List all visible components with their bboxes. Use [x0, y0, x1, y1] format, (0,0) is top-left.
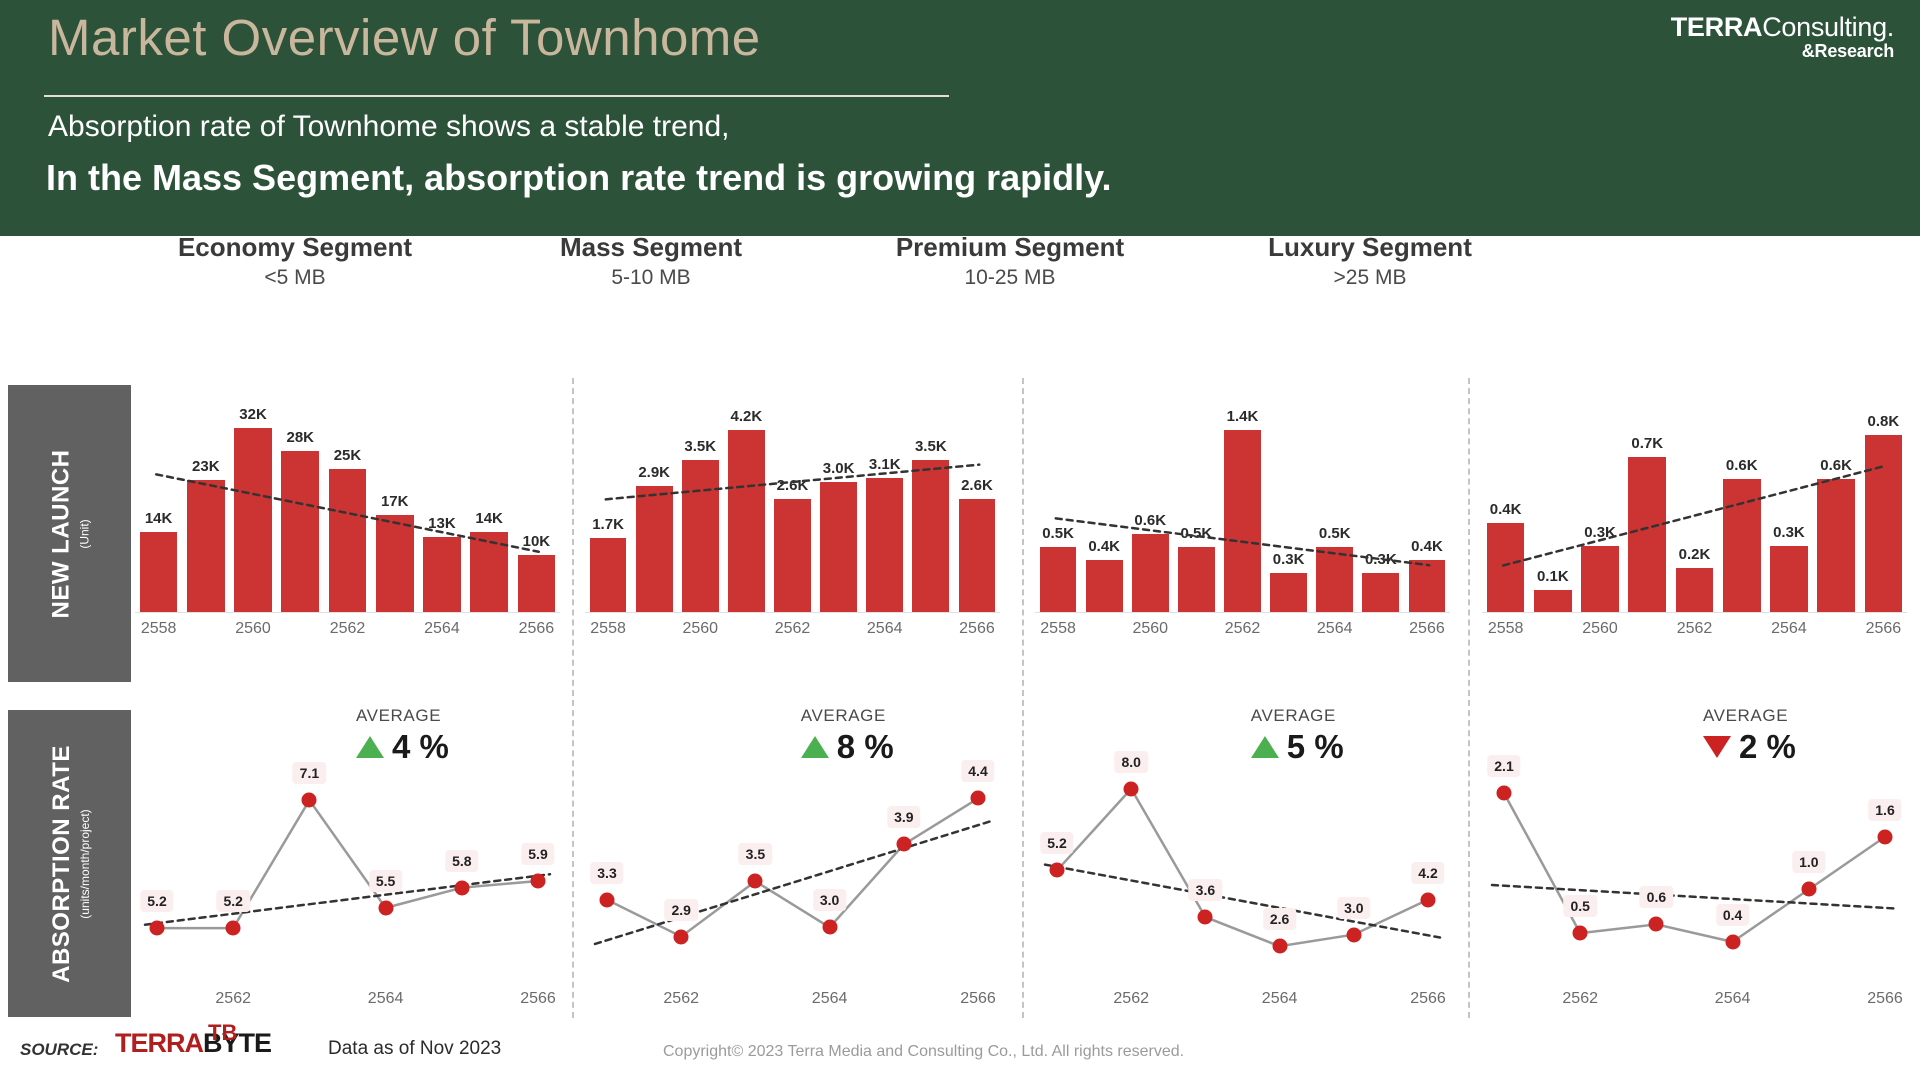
line-series-svg: [1035, 720, 1450, 1015]
data-point[interactable]: [226, 921, 241, 936]
trend-up-icon: [801, 736, 829, 758]
line-series-svg: [585, 720, 1000, 1015]
line-series-svg: [1482, 720, 1907, 1015]
header-subtitle-1: Absorption rate of Townhome shows a stab…: [48, 110, 730, 144]
logo-terra-text: TERRA: [1671, 12, 1763, 42]
data-point[interactable]: [822, 920, 837, 935]
x-axis-tick-label: 2566: [1388, 990, 1468, 1008]
x-axis-tick-label: 2562: [1540, 990, 1620, 1008]
trend-line: [135, 375, 560, 665]
data-point[interactable]: [1878, 829, 1893, 844]
average-caption: AVERAGE: [1703, 706, 1796, 726]
data-point[interactable]: [1497, 786, 1512, 801]
trend-up-icon: [1251, 736, 1279, 758]
average-value: 8 %: [837, 728, 894, 766]
page-header: Market Overview of Townhome Absorption r…: [0, 0, 1920, 236]
data-point[interactable]: [600, 892, 615, 907]
average-caption: AVERAGE: [1251, 706, 1344, 726]
data-point-label: 2.9: [664, 899, 697, 921]
x-axis-tick-label: 2564: [790, 990, 870, 1008]
data-point-label: 3.9: [887, 806, 920, 828]
x-axis-tick-label: 2564: [346, 990, 426, 1008]
data-point-label: 5.2: [216, 890, 249, 912]
line-chart-economy: 5.25.27.15.55.85.9256225642566AVERAGE4 %: [135, 720, 560, 1015]
average-value: 5 %: [1287, 728, 1344, 766]
data-point[interactable]: [150, 921, 165, 936]
chart-subtitle: 10-25 MB: [845, 266, 1175, 290]
average-badge: AVERAGE5 %: [1251, 706, 1344, 766]
data-point-label: 7.1: [293, 762, 326, 784]
row-label-text: ABSORPTION RATE: [48, 745, 76, 983]
x-axis-tick-label: 2562: [1091, 990, 1171, 1008]
data-point[interactable]: [1346, 927, 1361, 942]
chart-title: Economy Segment: [130, 232, 460, 263]
trend-up-icon: [356, 736, 384, 758]
average-caption: AVERAGE: [356, 706, 449, 726]
average-value-row: 8 %: [801, 728, 894, 766]
data-point-label: 3.5: [739, 843, 772, 865]
data-point[interactable]: [1421, 892, 1436, 907]
average-value: 4 %: [392, 728, 449, 766]
data-point-label: 5.8: [445, 850, 478, 872]
average-caption: AVERAGE: [801, 706, 894, 726]
row-label-absorption-rate: ABSORPTION RATE (units/month/project): [8, 710, 131, 1017]
x-axis-tick-label: 2564: [1693, 990, 1773, 1008]
row-label-text: NEW LAUNCH: [48, 449, 76, 618]
data-point[interactable]: [378, 900, 393, 915]
panel-divider-1: [572, 378, 574, 1018]
bar-chart-luxury: 0.4K25580.1K0.3K25600.7K0.2K25620.6K0.3K…: [1482, 375, 1907, 665]
bar-chart-economy: 14K255823K32K256028K25K256217K13K256414K…: [135, 375, 560, 665]
data-point[interactable]: [454, 880, 469, 895]
data-point[interactable]: [1198, 910, 1213, 925]
chart-title: Premium Segment: [845, 232, 1175, 263]
line-chart-luxury: 2.10.50.60.41.01.6256225642566AVERAGE2 %: [1482, 720, 1907, 1015]
data-point-label: 4.4: [961, 760, 994, 782]
column-title-economy: Economy Segment <5 MB: [130, 232, 460, 290]
data-point-label: 3.6: [1189, 879, 1222, 901]
data-point[interactable]: [971, 791, 986, 806]
page-footer: SOURCE: TERRABYTE TB Data as of Nov 2023…: [0, 1020, 1920, 1080]
x-axis-tick-label: 2566: [938, 990, 1018, 1008]
data-point-label: 3.0: [1337, 897, 1370, 919]
data-point-label: 2.6: [1263, 908, 1296, 930]
terrabyte-logo-terra: TERRA: [115, 1028, 203, 1058]
data-point-label: 1.6: [1868, 799, 1901, 821]
x-axis-tick-label: 2566: [1845, 990, 1920, 1008]
data-point[interactable]: [1801, 882, 1816, 897]
average-value-row: 2 %: [1703, 728, 1796, 766]
dashboard-page: Market Overview of Townhome Absorption r…: [0, 0, 1920, 1080]
column-title-premium: Premium Segment 10-25 MB: [845, 232, 1175, 290]
logo-consulting-text: Consulting.: [1762, 12, 1894, 42]
copyright-text: Copyright© 2023 Terra Media and Consulti…: [663, 1043, 1184, 1061]
average-badge: AVERAGE8 %: [801, 706, 894, 766]
logo-research-text: &Research: [1671, 42, 1894, 60]
data-point[interactable]: [1050, 863, 1065, 878]
column-title-mass: Mass Segment 5-10 MB: [486, 232, 816, 290]
data-point-label: 5.9: [521, 843, 554, 865]
header-subtitle-2: In the Mass Segment, absorption rate tre…: [46, 157, 1112, 199]
average-value: 2 %: [1739, 728, 1796, 766]
average-value-row: 5 %: [1251, 728, 1344, 766]
trend-line: [1035, 375, 1450, 665]
data-as-of-text: Data as of Nov 2023: [328, 1038, 501, 1060]
line-chart-mass: 3.32.93.53.03.94.4256225642566AVERAGE8 %: [585, 720, 1000, 1015]
terra-consulting-logo: TERRAConsulting. &Research: [1671, 14, 1894, 60]
panel-divider-2: [1022, 378, 1024, 1018]
data-point[interactable]: [302, 793, 317, 808]
chart-title: Mass Segment: [486, 232, 816, 263]
trend-line: [585, 375, 1000, 665]
data-point-label: 0.5: [1563, 895, 1596, 917]
trend-down-icon: [1703, 736, 1731, 758]
data-point-label: 3.3: [590, 862, 623, 884]
source-label: SOURCE:: [20, 1040, 98, 1060]
row-label-new-launch: NEW LAUNCH (Unit): [8, 385, 131, 682]
x-axis-tick-label: 2562: [193, 990, 273, 1008]
data-point[interactable]: [1573, 926, 1588, 941]
bar-chart-mass: 1.7K25582.9K3.5K25604.2K2.6K25623.0K3.1K…: [585, 375, 1000, 665]
data-point-label: 5.2: [1040, 832, 1073, 854]
row-unit-text: (Unit): [78, 449, 92, 618]
x-axis-tick-label: 2564: [1240, 990, 1320, 1008]
page-title: Market Overview of Townhome: [48, 8, 761, 67]
average-badge: AVERAGE2 %: [1703, 706, 1796, 766]
average-value-row: 4 %: [356, 728, 449, 766]
trend-line: [1482, 375, 1907, 665]
data-point[interactable]: [1649, 917, 1664, 932]
data-point-label: 4.2: [1411, 862, 1444, 884]
bar-chart-premium: 0.5K25580.4K0.6K25600.5K1.4K25620.3K0.5K…: [1035, 375, 1450, 665]
terrabyte-logo: TERRABYTE: [115, 1028, 271, 1059]
data-point-label: 0.6: [1640, 886, 1673, 908]
data-point-label: 1.0: [1792, 851, 1825, 873]
chart-subtitle: <5 MB: [130, 266, 460, 290]
line-series-svg: [135, 720, 560, 1015]
chart-subtitle: 5-10 MB: [486, 266, 816, 290]
column-title-luxury: Luxury Segment >25 MB: [1205, 232, 1535, 290]
data-point-label: 5.5: [369, 870, 402, 892]
row-unit-text: (units/month/project): [78, 745, 92, 983]
data-point[interactable]: [896, 837, 911, 852]
data-point-label: 3.0: [813, 889, 846, 911]
data-point-label: 2.1: [1487, 755, 1520, 777]
data-point-label: 0.4: [1716, 904, 1749, 926]
header-divider: [44, 95, 949, 97]
x-axis-tick-label: 2566: [498, 990, 578, 1008]
data-point-label: 5.2: [140, 890, 173, 912]
panel-divider-3: [1468, 378, 1470, 1018]
data-point[interactable]: [1124, 781, 1139, 796]
chart-title: Luxury Segment: [1205, 232, 1535, 263]
average-badge: AVERAGE4 %: [356, 706, 449, 766]
data-point[interactable]: [531, 873, 546, 888]
terrabyte-mark-icon: TB: [208, 1022, 237, 1044]
data-point[interactable]: [1272, 939, 1287, 954]
data-point[interactable]: [1725, 934, 1740, 949]
data-point-label: 8.0: [1114, 751, 1147, 773]
x-axis-tick-label: 2562: [641, 990, 721, 1008]
chart-subtitle: >25 MB: [1205, 266, 1535, 290]
data-point[interactable]: [748, 874, 763, 889]
data-point[interactable]: [674, 929, 689, 944]
line-chart-premium: 5.28.03.62.63.04.2256225642566AVERAGE5 %: [1035, 720, 1450, 1015]
